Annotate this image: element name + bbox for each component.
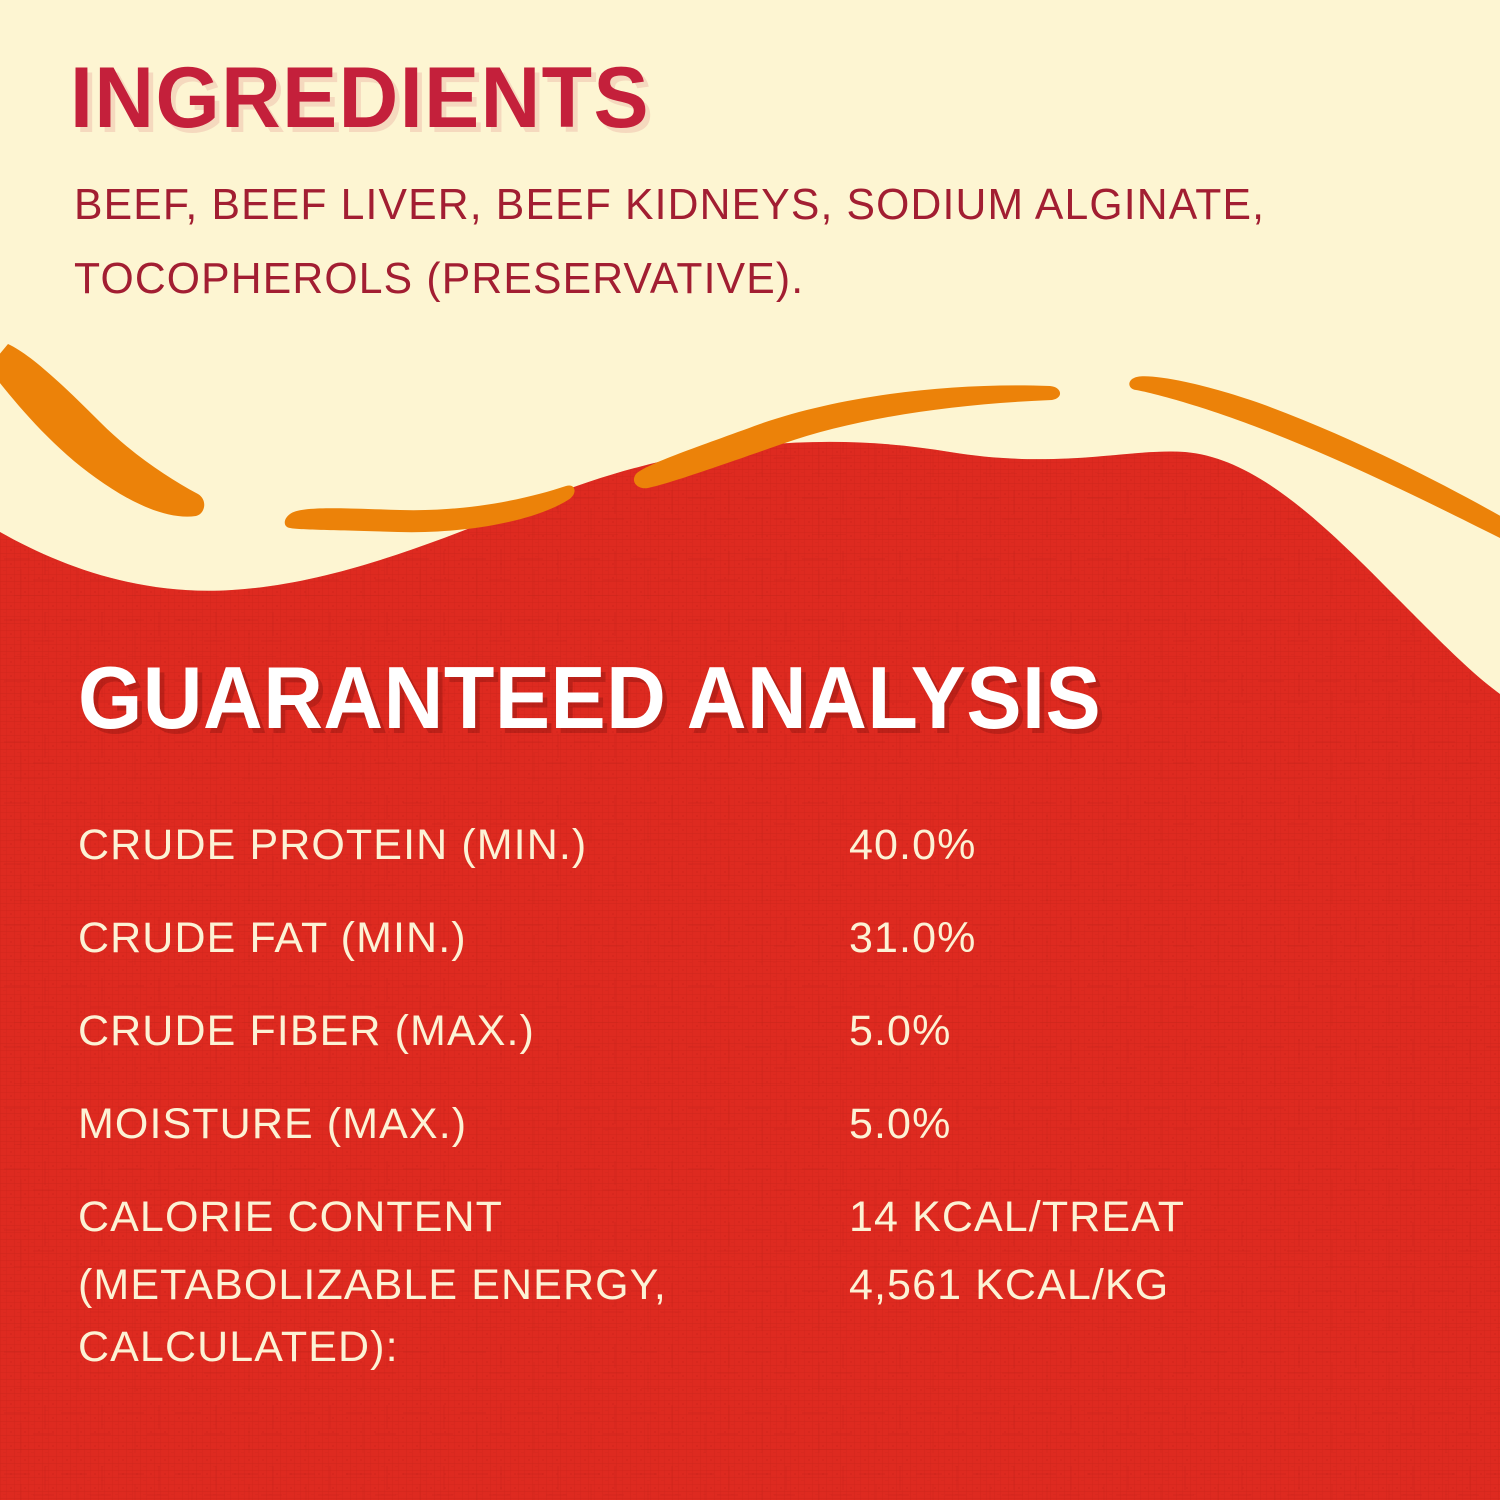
analysis-value: 40.0%: [849, 814, 1228, 907]
brush-stroke-1: [0, 344, 204, 517]
guaranteed-analysis-table: CRUDE PROTEIN (MIN.) 40.0% CRUDE FAT (MI…: [78, 814, 1228, 1409]
table-row: (METABOLIZABLE ENERGY, CALCULATED): 4,56…: [78, 1254, 1228, 1409]
ingredients-section: INGREDIENTS BEEF, BEEF LIVER, BEEF KIDNE…: [70, 52, 1410, 316]
analysis-value: 5.0%: [849, 1093, 1228, 1186]
product-label-panel: INGREDIENTS BEEF, BEEF LIVER, BEEF KIDNE…: [0, 0, 1500, 1500]
analysis-label-line-2: CALCULATED):: [78, 1316, 839, 1378]
analysis-label: CRUDE PROTEIN (MIN.): [78, 814, 849, 907]
table-row: CRUDE FAT (MIN.) 31.0%: [78, 907, 1228, 1000]
table-row: CRUDE FIBER (MAX.) 5.0%: [78, 1000, 1228, 1093]
guaranteed-analysis-heading: GUARANTEED ANALYSIS: [78, 650, 1338, 746]
ingredients-text: BEEF, BEEF LIVER, BEEF KIDNEYS, SODIUM A…: [74, 168, 1267, 316]
analysis-label-line-1: (METABOLIZABLE ENERGY,: [78, 1254, 839, 1316]
analysis-label: CALORIE CONTENT: [78, 1186, 849, 1254]
guaranteed-analysis-section: GUARANTEED ANALYSIS CRUDE PROTEIN (MIN.)…: [78, 650, 1418, 1409]
analysis-value: 14 KCAL/TREAT: [849, 1186, 1228, 1254]
table-row: CALORIE CONTENT 14 KCAL/TREAT: [78, 1186, 1228, 1254]
table-row: CRUDE PROTEIN (MIN.) 40.0%: [78, 814, 1228, 907]
ingredients-heading: INGREDIENTS: [70, 52, 1356, 144]
analysis-value: 4,561 KCAL/KG: [849, 1254, 1228, 1409]
analysis-label: MOISTURE (MAX.): [78, 1093, 849, 1186]
analysis-value: 31.0%: [849, 907, 1228, 1000]
analysis-label: CRUDE FIBER (MAX.): [78, 1000, 849, 1093]
analysis-label: CRUDE FAT (MIN.): [78, 907, 849, 1000]
analysis-label-multiline: (METABOLIZABLE ENERGY, CALCULATED):: [78, 1254, 849, 1409]
analysis-value: 5.0%: [849, 1000, 1228, 1093]
table-row: MOISTURE (MAX.) 5.0%: [78, 1093, 1228, 1186]
